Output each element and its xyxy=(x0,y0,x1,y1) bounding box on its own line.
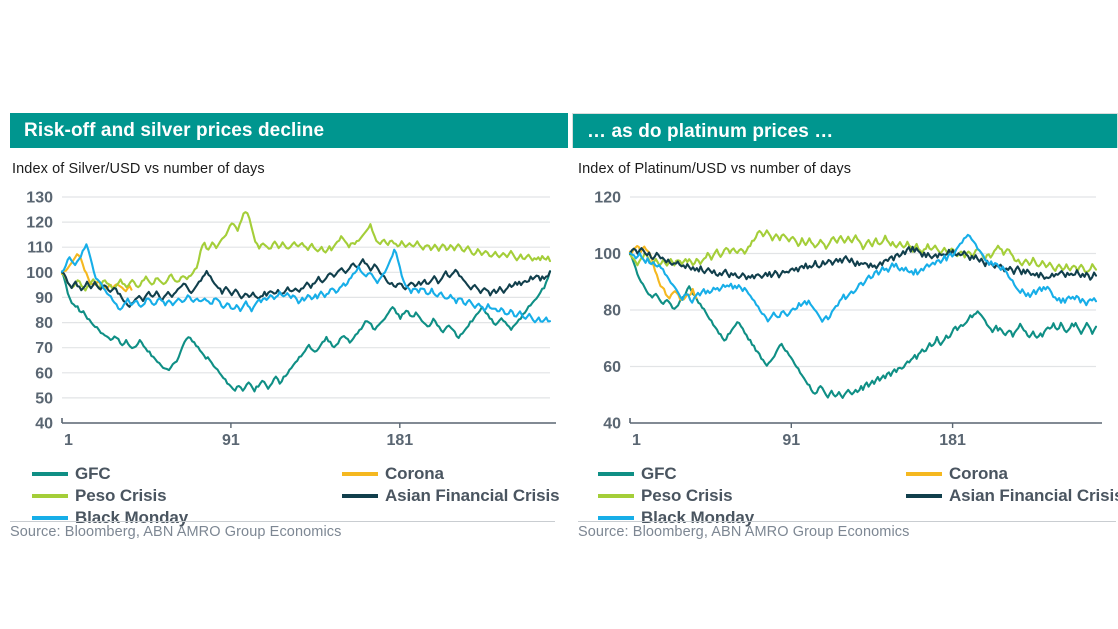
panel-title-platinum: … as do platinum prices … xyxy=(587,122,833,141)
y-tick-label: 80 xyxy=(603,303,621,320)
panel-subtitle-silver: Index of Silver/USD vs number of days xyxy=(10,161,568,177)
x-tick-label: 1 xyxy=(64,432,73,449)
infographic-page: Risk-off and silver prices decline Index… xyxy=(0,0,1118,629)
y-tick-label: 40 xyxy=(35,416,53,433)
legend-swatch-asian-financial-crisis xyxy=(342,494,378,498)
legend-silver: GFC Corona Peso Crisis Asian Financial C… xyxy=(10,463,568,528)
panel-silver: Risk-off and silver prices decline Index… xyxy=(10,113,568,543)
legend-item-asian-financial-crisis[interactable]: Asian Financial Crisis xyxy=(906,485,1118,506)
y-tick-label: 100 xyxy=(26,265,53,282)
legend-label-gfc: GFC xyxy=(641,464,677,484)
legend-label-peso-crisis: Peso Crisis xyxy=(641,486,733,506)
y-tick-label: 70 xyxy=(35,340,53,357)
y-tick-label: 130 xyxy=(26,190,53,207)
panel-subtitle-platinum: Index of Platinum/USD vs number of days xyxy=(572,161,1118,177)
y-tick-label: 100 xyxy=(594,246,621,263)
legend-item-asian-financial-crisis[interactable]: Asian Financial Crisis xyxy=(342,485,568,506)
legend-item-corona[interactable]: Corona xyxy=(906,463,1118,484)
panel-header-platinum: … as do platinum prices … xyxy=(572,113,1118,148)
y-tick-label: 50 xyxy=(35,390,53,407)
x-tick-label: 1 xyxy=(632,432,641,449)
y-tick-label: 90 xyxy=(35,290,53,307)
legend-label-corona: Corona xyxy=(385,464,444,484)
chart-silver: 405060708090100110120130191181 xyxy=(10,189,568,457)
legend-item-peso-crisis[interactable]: Peso Crisis xyxy=(598,485,906,506)
series-line-peso-crisis xyxy=(62,212,550,290)
legend-platinum: GFC Corona Peso Crisis Asian Financial C… xyxy=(572,463,1118,528)
y-tick-label: 120 xyxy=(594,190,621,207)
legend-swatch-peso-crisis xyxy=(32,494,68,498)
legend-swatch-gfc xyxy=(32,472,68,476)
chart-svg-silver: 405060708090100110120130191181 xyxy=(10,189,566,457)
legend-label-asian-financial-crisis: Asian Financial Crisis xyxy=(949,486,1118,506)
legend-swatch-corona xyxy=(906,472,942,476)
panel-title-silver: Risk-off and silver prices decline xyxy=(24,121,324,140)
legend-swatch-gfc xyxy=(598,472,634,476)
x-tick-label: 91 xyxy=(782,432,800,449)
y-tick-label: 120 xyxy=(26,215,53,232)
legend-label-gfc: GFC xyxy=(75,464,111,484)
legend-swatch-corona xyxy=(342,472,378,476)
series-line-gfc xyxy=(630,253,1096,398)
divider-left xyxy=(10,521,555,522)
y-tick-label: 60 xyxy=(603,359,621,376)
legend-swatch-black-monday xyxy=(32,516,68,520)
legend-item-gfc[interactable]: GFC xyxy=(598,463,906,484)
source-platinum: Source: Bloomberg, ABN AMRO Group Econom… xyxy=(578,524,910,540)
legend-label-peso-crisis: Peso Crisis xyxy=(75,486,167,506)
y-tick-label: 40 xyxy=(603,416,621,433)
panel-header-silver: Risk-off and silver prices decline xyxy=(10,113,568,148)
divider-right xyxy=(578,521,1116,522)
x-tick-label: 181 xyxy=(939,432,966,449)
x-tick-label: 91 xyxy=(222,432,240,449)
legend-label-asian-financial-crisis: Asian Financial Crisis xyxy=(385,486,559,506)
y-tick-label: 60 xyxy=(35,365,53,382)
legend-swatch-black-monday xyxy=(598,516,634,520)
chart-svg-platinum: 406080100120191181 xyxy=(572,189,1112,457)
y-tick-label: 80 xyxy=(35,315,53,332)
legend-item-corona[interactable]: Corona xyxy=(342,463,568,484)
source-silver: Source: Bloomberg, ABN AMRO Group Econom… xyxy=(10,524,342,540)
panel-platinum: … as do platinum prices … Index of Plati… xyxy=(572,113,1118,543)
legend-item-peso-crisis[interactable]: Peso Crisis xyxy=(32,485,342,506)
chart-platinum: 406080100120191181 xyxy=(572,189,1118,457)
legend-swatch-asian-financial-crisis xyxy=(906,494,942,498)
legend-item-gfc[interactable]: GFC xyxy=(32,463,342,484)
y-tick-label: 110 xyxy=(27,240,53,257)
x-tick-label: 181 xyxy=(386,432,413,449)
legend-label-corona: Corona xyxy=(949,464,1008,484)
legend-swatch-peso-crisis xyxy=(598,494,634,498)
